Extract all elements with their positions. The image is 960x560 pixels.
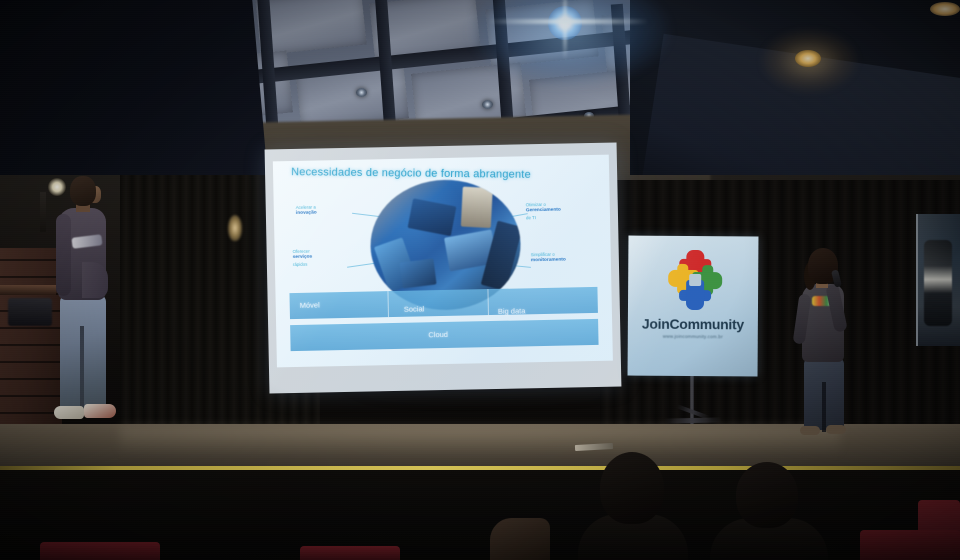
wall-sconce-icon <box>228 215 242 241</box>
callout-extra: de TI <box>526 215 536 220</box>
recessed-downlight-icon <box>356 88 367 97</box>
callout-emphasis: serviços <box>293 254 349 262</box>
slide-bar-top <box>289 287 597 319</box>
slide-callout-bottom-right: Simplificar o monitoramento <box>531 251 587 265</box>
speaker-left-arm <box>56 214 71 296</box>
seat-back <box>300 546 400 560</box>
slide-bar-label-bigdata: Big data <box>498 306 526 316</box>
slide-callout-top-right: Otimizar o Gerenciamento de TI <box>526 201 582 222</box>
lamp-arm <box>40 192 46 232</box>
slide-callout-bottom-left: Oferecer serviços rápidos <box>293 248 349 269</box>
slide-bar-label-movel: Móvel <box>300 300 320 309</box>
amber-downlight-icon <box>795 50 821 67</box>
device-tile <box>400 258 437 288</box>
banner-glare <box>628 236 759 377</box>
lens-flare-horizontal <box>488 19 648 24</box>
ceiling-dark-corner <box>0 0 270 175</box>
callout-lead: Acelerar a <box>296 205 316 210</box>
slide-content: Necessidades de negócio de forma abrange… <box>273 155 613 368</box>
speaker-right-shoe <box>826 425 846 434</box>
speaker-left-shoe <box>54 406 84 419</box>
callout-extra: rápidos <box>293 262 308 267</box>
lens-flare-vertical <box>563 0 567 60</box>
seat-back <box>40 542 160 560</box>
speaker-right-leg-gap <box>822 382 826 432</box>
seat-back <box>860 530 960 560</box>
callout-lead: Oferecer <box>293 249 310 254</box>
audience-head <box>736 462 798 528</box>
speaker-left-shoe <box>84 404 116 418</box>
recessed-downlight-icon <box>482 100 493 109</box>
speaker-right-shoe <box>800 426 820 435</box>
audience-member <box>710 462 828 560</box>
conference-stage-photo: Necessidades de negócio de forma abrange… <box>0 0 960 560</box>
callout-lead: Otimizar o <box>526 202 546 207</box>
speaker-left <box>48 176 124 438</box>
callout-emphasis: monitoramento <box>531 257 587 265</box>
device-tile <box>461 187 493 228</box>
side-poster <box>916 214 960 346</box>
speaker-right <box>792 248 860 438</box>
left-equipment <box>8 298 52 326</box>
edge-downlight-icon <box>930 2 960 16</box>
speaker-left-torso-shading <box>82 262 108 298</box>
callout-lead: Simplificar o <box>531 252 555 257</box>
callout-emphasis: Gerenciamento <box>526 208 582 216</box>
banner-stand-pole <box>690 376 694 424</box>
poster-glare <box>918 214 960 346</box>
audience-head <box>600 452 664 524</box>
audience-member <box>490 518 550 560</box>
callout-emphasis: inovação <box>296 210 352 218</box>
joincommunity-banner: JoinCommunity www.joincommunity.com.br <box>628 236 759 377</box>
slide-bar-label-cloud: Cloud <box>428 330 448 339</box>
device-tile <box>408 198 457 236</box>
speaker-left-head <box>70 176 96 206</box>
speaker-left-leg-gap <box>80 326 84 410</box>
banner-stand-base <box>664 417 722 423</box>
projection-screen: Necessidades de negócio de forma abrange… <box>265 142 622 393</box>
slide-bar-label-social: Social <box>404 304 425 313</box>
audience-member <box>578 452 688 560</box>
stage-floor-sheen <box>120 426 840 456</box>
slide-callout-top-left: Acelerar a inovação <box>296 204 352 218</box>
